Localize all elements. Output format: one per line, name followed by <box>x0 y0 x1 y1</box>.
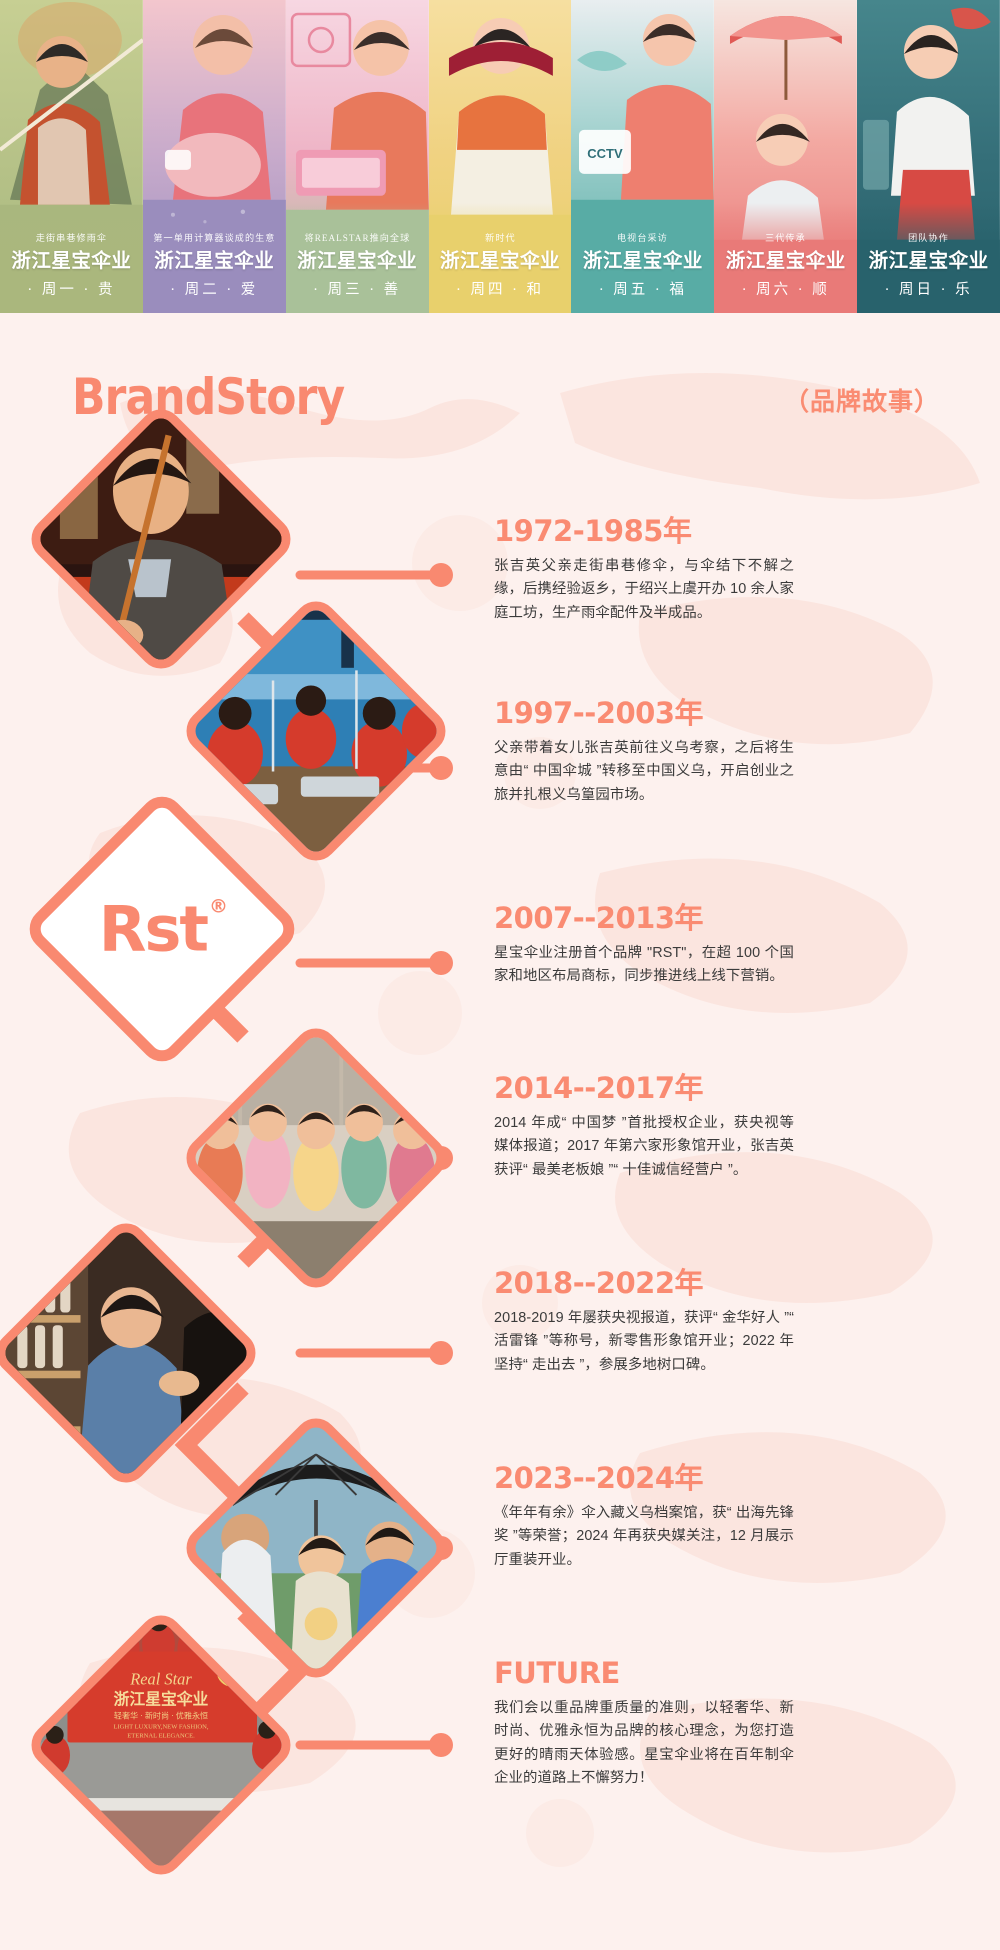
banner-caption: 将REALSTAR推向全球 <box>289 230 426 243</box>
banner-brand: 浙江星宝伞业 <box>571 251 714 273</box>
timeline-entry-7: FUTURE 我们会以重品牌重质量的准则，以轻奢华、新时尚、优雅永恒为品牌的核心… <box>494 1658 794 1790</box>
registered-trademark-icon: ® <box>210 896 227 918</box>
banner-card-thursday[interactable]: 新时代 浙江星宝伞业 · 周四 · 和 <box>429 0 572 313</box>
banner-brand: 浙江星宝伞业 <box>714 251 857 273</box>
svg-text:LIGHT LUXURY,NEW FASHION,: LIGHT LUXURY,NEW FASHION, <box>113 1724 208 1731</box>
timeline-desc: 父亲带着女儿张吉英前往义乌考察，之后将生意由“ 中国伞城 ”转移至中国义乌，开启… <box>494 737 794 807</box>
banner-card-friday[interactable]: CCTV 电视台采访 浙江星宝伞业 · 周五 · 福 <box>571 0 714 313</box>
banner-caption: 电视台采访 <box>574 230 711 243</box>
svg-text:CCTV: CCTV <box>588 146 624 161</box>
timeline-entry-6: 2023--2024年 《年年有余》伞入藏义乌档案馆，获“ 出海先锋奖 ”等荣誉… <box>494 1463 794 1572</box>
banner-caption: 团队协作 <box>860 230 997 243</box>
page-title: BrandStory <box>72 368 344 426</box>
banner-day: · 周二 · 爱 <box>143 278 286 299</box>
banner-day: · 周六 · 顺 <box>714 278 857 299</box>
rst-logo-text: Rst® <box>99 892 224 965</box>
banner-day: · 周三 · 善 <box>286 278 429 299</box>
banner-brand: 浙江星宝伞业 <box>429 251 572 273</box>
banner-brand: 浙江星宝伞业 <box>143 251 286 273</box>
timeline-year: 2007--2013年 <box>494 903 794 935</box>
banner-card-saturday[interactable]: 三代传承 浙江星宝伞业 · 周六 · 顺 <box>714 0 857 313</box>
timeline-desc: 《年年有余》伞入藏义乌档案馆，获“ 出海先锋奖 ”等荣誉；2024 年再获央媒关… <box>494 1502 794 1572</box>
timeline-desc: 星宝伞业注册首个品牌 "RST"，在超 100 个国家和地区布局商标，同步推进线… <box>494 942 794 989</box>
timeline-year: 1972-1985年 <box>494 516 794 548</box>
page-header: BrandStory （品牌故事） <box>0 368 1000 438</box>
banner-brand: 浙江星宝伞业 <box>857 251 1000 273</box>
banner-card-wednesday[interactable]: 将REALSTAR推向全球 浙江星宝伞业 · 周三 · 善 <box>286 0 429 313</box>
svg-text:Real Star: Real Star <box>129 1669 192 1688</box>
top-banner: 走街串巷修雨伞 浙江星宝伞业 · 周一 · 贵 第一单用计算器谈成的生意 浙江星… <box>0 0 1000 313</box>
timeline-year: 2018--2022年 <box>494 1268 794 1300</box>
banner-card-tuesday[interactable]: 第一单用计算器谈成的生意 浙江星宝伞业 · 周二 · 爱 <box>143 0 286 313</box>
rst-logo-word: Rst <box>99 892 207 965</box>
svg-text:ETERNAL ELEGANCE.: ETERNAL ELEGANCE. <box>127 1732 195 1739</box>
banner-day: · 周一 · 贵 <box>0 278 143 299</box>
timeline-desc: 我们会以重品牌重质量的准则，以轻奢华、新时尚、优雅永恒为品牌的核心理念，为您打造… <box>494 1697 794 1790</box>
timeline-desc: 2018-2019 年屡获央视报道，获评“ 金华好人 ”“ 活雷锋 ”等称号，新… <box>494 1307 794 1377</box>
timeline-entry-5: 2018--2022年 2018-2019 年屡获央视报道，获评“ 金华好人 ”… <box>494 1268 794 1377</box>
timeline-year: 1997--2003年 <box>494 698 794 730</box>
banner-day: · 周四 · 和 <box>429 278 572 299</box>
banner-card-sunday[interactable]: 团队协作 浙江星宝伞业 · 周日 · 乐 <box>857 0 1000 313</box>
svg-text:轻奢华 · 新时尚 · 优雅永恒: 轻奢华 · 新时尚 · 优雅永恒 <box>114 1710 208 1720</box>
svg-text:浙江星宝伞业: 浙江星宝伞业 <box>114 1690 209 1709</box>
timeline-entry-4: 2014--2017年 2014 年成“ 中国梦 ”首批授权企业，获央视等媒体报… <box>494 1073 794 1182</box>
banner-card-monday[interactable]: 走街串巷修雨伞 浙江星宝伞业 · 周一 · 贵 <box>0 0 143 313</box>
timeline-entry-1: 1972-1985年 张吉英父亲走街串巷修伞，与伞结下不解之缘，后携经验返乡，于… <box>494 516 794 625</box>
timeline-year: 2014--2017年 <box>494 1073 794 1105</box>
banner-caption: 新时代 <box>431 230 568 243</box>
timeline-desc: 2014 年成“ 中国梦 ”首批授权企业，获央视等媒体报道；2017 年第六家形… <box>494 1112 794 1182</box>
banner-brand: 浙江星宝伞业 <box>0 251 143 273</box>
timeline-year: 2023--2024年 <box>494 1463 794 1495</box>
timeline-entry-3: 2007--2013年 星宝伞业注册首个品牌 "RST"，在超 100 个国家和… <box>494 903 794 989</box>
banner-day: · 周日 · 乐 <box>857 278 1000 299</box>
banner-caption: 第一单用计算器谈成的生意 <box>146 230 283 243</box>
page-title-cn: （品牌故事） <box>784 382 940 418</box>
timeline-entry-2: 1997--2003年 父亲带着女儿张吉英前往义乌考察，之后将生意由“ 中国伞城… <box>494 698 794 807</box>
banner-day: · 周五 · 福 <box>571 278 714 299</box>
timeline-desc: 张吉英父亲走街串巷修伞，与伞结下不解之缘，后携经验返乡，于绍兴上虞开办 10 余… <box>494 555 794 625</box>
timeline-year: FUTURE <box>494 1658 794 1690</box>
brand-story-page: BrandStory （品牌故事） <box>0 313 1000 1950</box>
banner-caption: 三代传承 <box>717 230 854 243</box>
banner-caption: 走街串巷修雨伞 <box>3 230 140 243</box>
banner-brand: 浙江星宝伞业 <box>286 251 429 273</box>
